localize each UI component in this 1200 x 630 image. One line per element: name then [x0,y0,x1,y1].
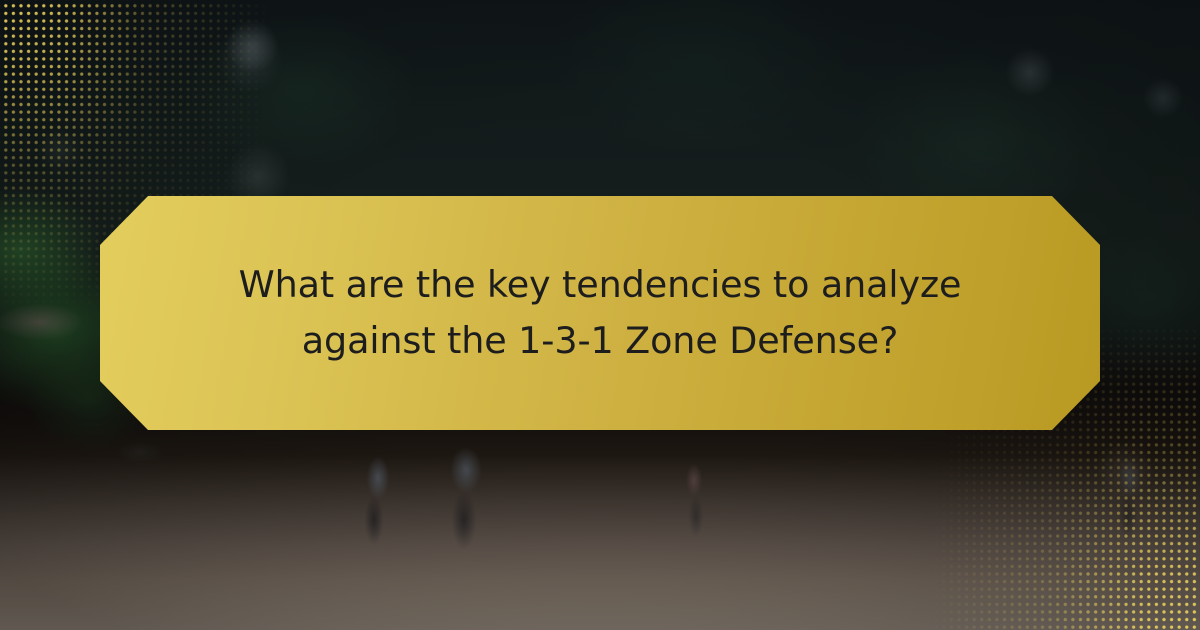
question-text: What are the key tendencies to analyze a… [220,257,980,369]
question-card-graphic: What are the key tendencies to analyze a… [0,0,1200,630]
question-card: What are the key tendencies to analyze a… [100,196,1100,430]
